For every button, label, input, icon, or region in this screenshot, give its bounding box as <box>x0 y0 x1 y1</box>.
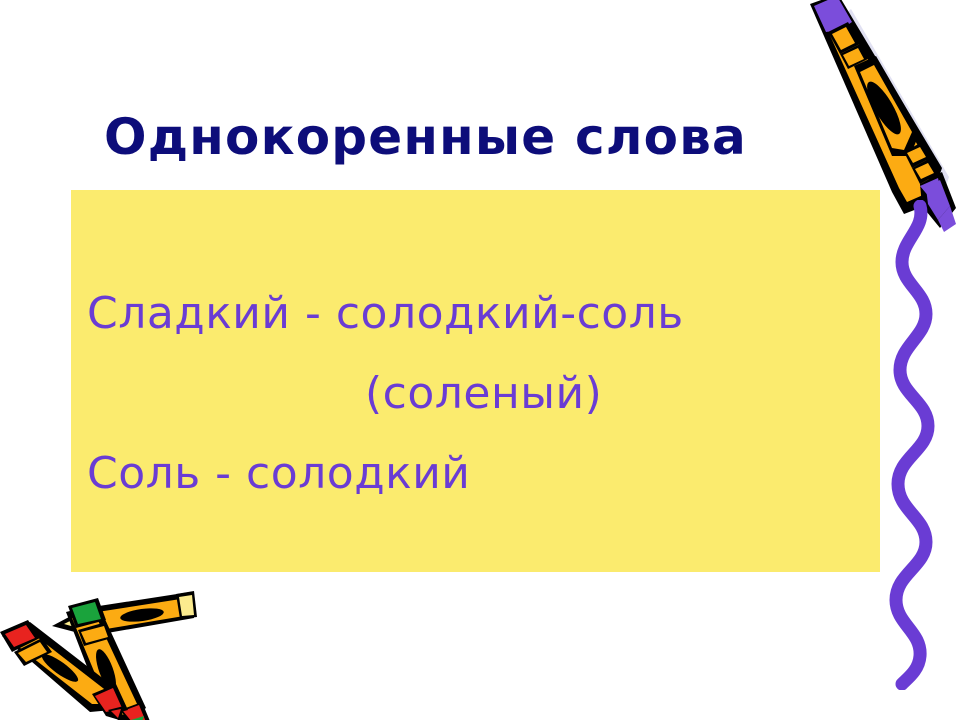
crayon-cluster-icon <box>0 570 229 720</box>
wavy-line-icon <box>880 200 960 690</box>
content-line-1: Сладкий - солодкий-соль <box>87 292 684 336</box>
cream-crayon-icon <box>52 591 197 636</box>
page-title: Однокоренные слова <box>104 104 804 170</box>
content-line-2: (соленый) <box>365 372 602 416</box>
red-crayon-icon <box>0 620 128 720</box>
content-line-3: Соль - солодкий <box>87 452 470 496</box>
purple-wavy-line-illustration <box>880 200 960 694</box>
green-crayon-icon <box>66 598 152 720</box>
slide-canvas: Однокоренные слова Сладкий - солодкий-со… <box>0 0 960 720</box>
crayons-bottom-left-illustration <box>0 570 229 720</box>
content-box: Сладкий - солодкий-соль (соленый) Соль -… <box>71 190 880 572</box>
